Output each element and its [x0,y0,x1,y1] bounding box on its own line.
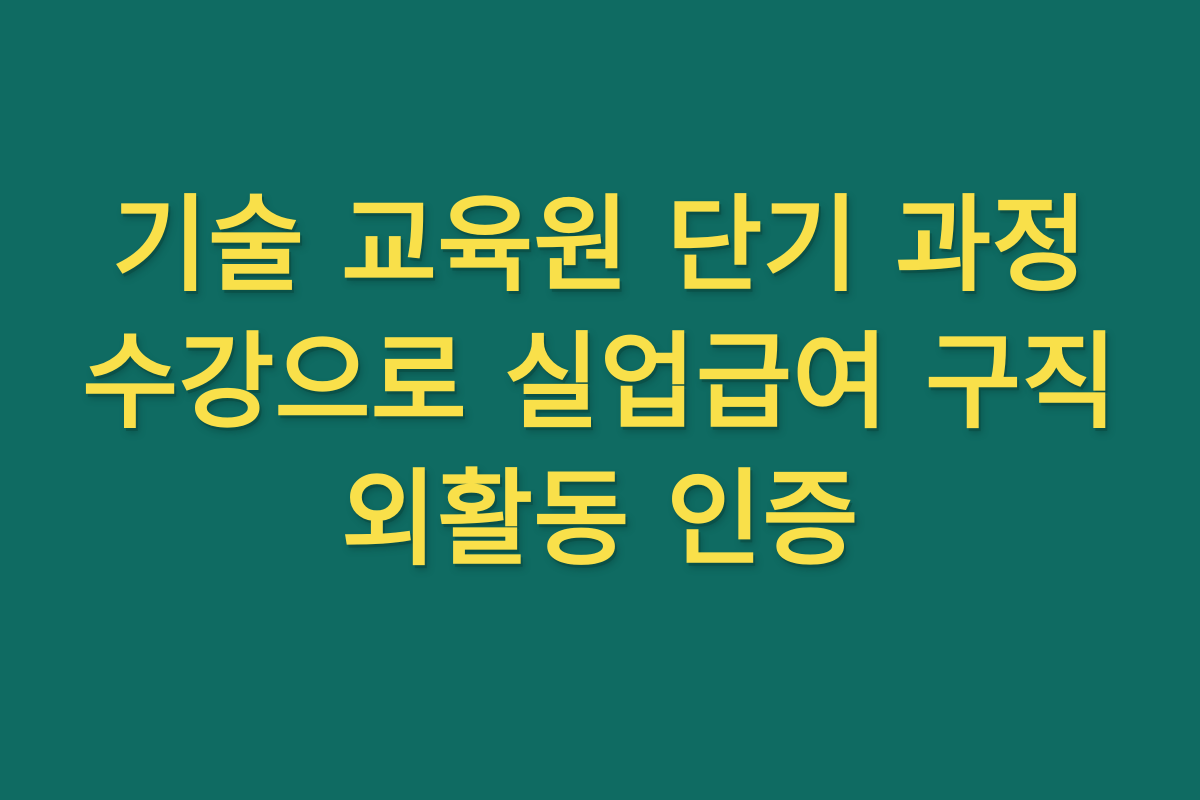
headline-line-3: 외활동 인증 [24,451,1176,588]
page-title: 기술 교육원 단기 과정 수강으로 실업급여 구직 외활동 인증 [0,177,1200,588]
headline-line-1: 기술 교육원 단기 과정 [24,177,1176,314]
thumbnail-canvas: 기술 교육원 단기 과정 수강으로 실업급여 구직 외활동 인증 [0,0,1200,800]
headline-line-2: 수강으로 실업급여 구직 [24,314,1176,451]
